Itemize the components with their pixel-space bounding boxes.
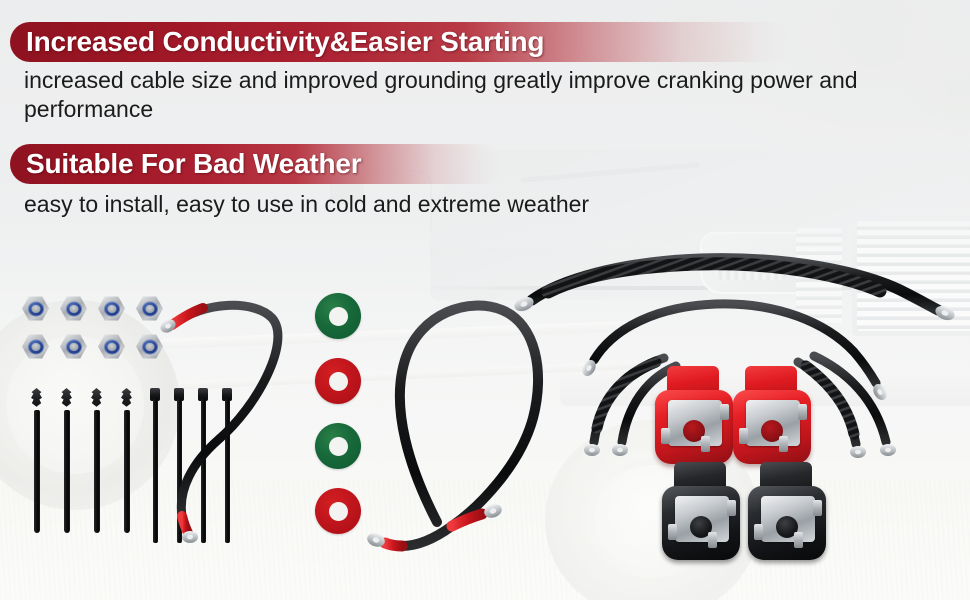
battery-terminal-clamp-positive bbox=[655, 366, 733, 464]
feature-2-headline: Suitable For Bad Weather bbox=[26, 148, 361, 180]
battery-terminal-clamp-positive bbox=[733, 366, 811, 464]
clamp-bolt bbox=[779, 436, 788, 452]
clamp-bolt bbox=[798, 404, 807, 420]
clamp-bolt bbox=[813, 500, 822, 516]
product-layout bbox=[0, 0, 970, 600]
clamp-bolt bbox=[720, 404, 729, 420]
clamp-bolt bbox=[794, 532, 803, 548]
clamp-bolt bbox=[739, 428, 748, 444]
long-battery-cable-loop bbox=[365, 306, 538, 549]
battery-terminal-clamp-negative bbox=[662, 462, 740, 560]
short-battery-cable-upper-left bbox=[158, 305, 278, 543]
feature-1-headline: Increased Conductivity&Easier Starting bbox=[26, 26, 544, 58]
clamp-bolt bbox=[661, 428, 670, 444]
clamp-bolt bbox=[668, 524, 677, 540]
clamp-bolt bbox=[727, 500, 736, 516]
clamp-bolt bbox=[754, 524, 763, 540]
battery-terminal-clamp-negative bbox=[748, 462, 826, 560]
clamp-bolt bbox=[708, 532, 717, 548]
product-banner-image: Increased Conductivity&Easier Starting i… bbox=[0, 0, 970, 600]
clamp-bolt bbox=[701, 436, 710, 452]
long-loomed-battery-cable-top bbox=[512, 259, 956, 323]
